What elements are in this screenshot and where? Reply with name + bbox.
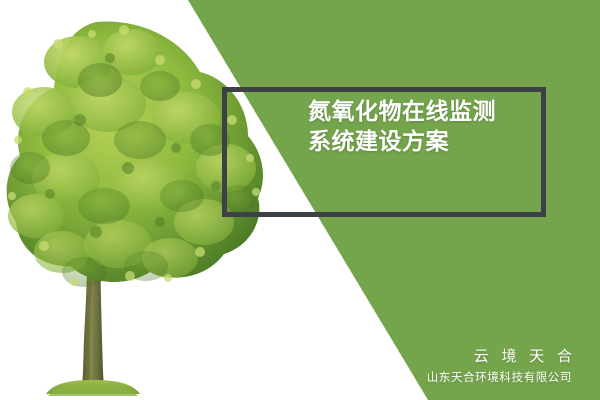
presentation-cover-slide: 氮氧化物在线监测 系统建设方案 云 境 天 合 山东天合环境科技有限公司 [0,0,600,400]
brand-name: 云 境 天 合 [427,346,576,366]
grass-patch [46,380,140,396]
tree-canopy [7,22,263,287]
page-title: 氮氧化物在线监测 系统建设方案 [308,97,540,157]
brand-company-name: 山东天合环境科技有限公司 [427,368,572,386]
brand-block: 云 境 天 合 山东天合环境科技有限公司 [427,346,572,386]
tree-illustration [0,0,290,400]
